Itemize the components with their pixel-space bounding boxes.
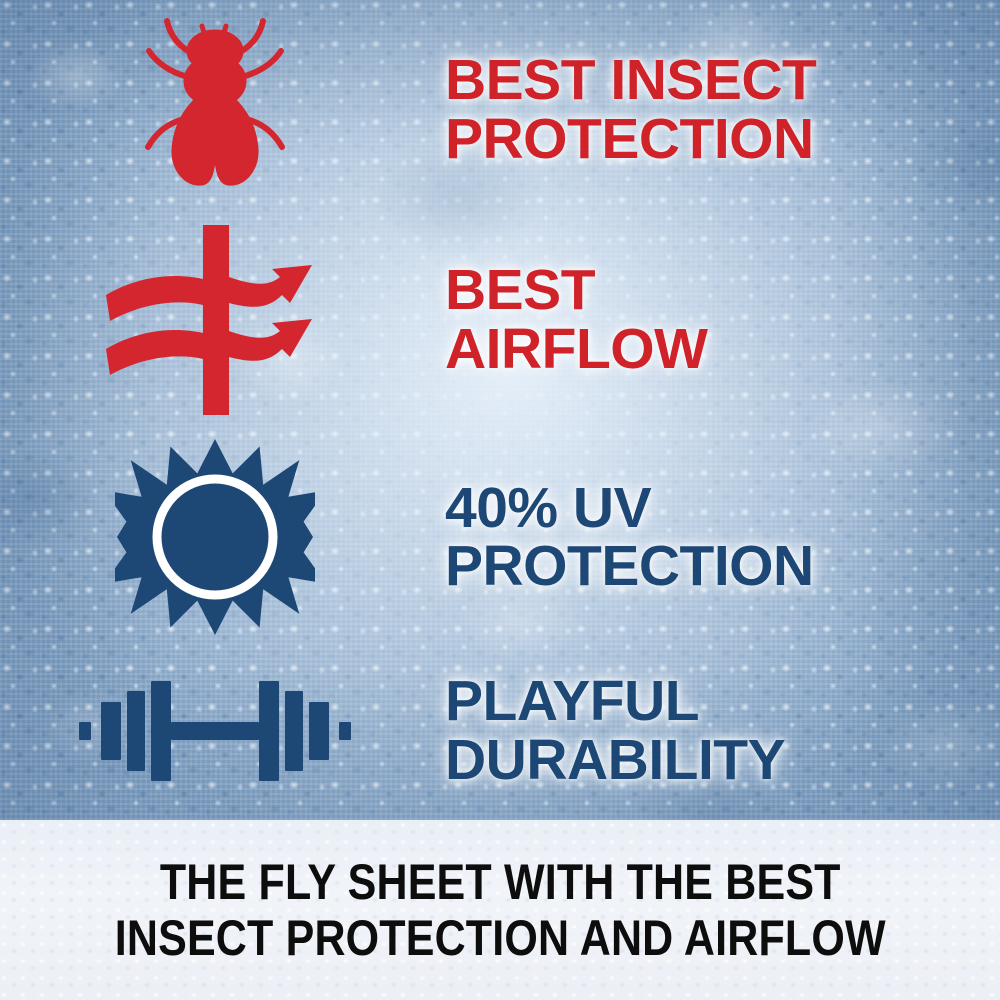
feature-label-uv-protection: 40% UV PROTECTION [445, 479, 1000, 595]
label-cell-durability: PLAYFUL DURABILITY [430, 672, 1000, 788]
feature-row-insect-protection: BEST INSECT PROTECTION [0, 12, 1000, 207]
icon-cell-sun [0, 437, 430, 637]
label-cell-airflow: BEST AIRFLOW [430, 261, 1000, 377]
caption-band: THE FLY SHEET WITH THE BEST INSECT PROTE… [0, 820, 1000, 1000]
feature-label-airflow: BEST AIRFLOW [445, 261, 1000, 377]
feature-label-insect-protection: BEST INSECT PROTECTION [445, 51, 1000, 167]
feature-label-durability: PLAYFUL DURABILITY [445, 672, 1000, 788]
feature-row-durability: PLAYFUL DURABILITY [0, 648, 1000, 813]
sun-uv-icon [115, 437, 315, 637]
dumbbell-icon [75, 666, 355, 796]
icon-cell-fly [0, 15, 430, 205]
airflow-arrows-icon [100, 225, 330, 415]
feature-row-airflow: BEST AIRFLOW [0, 222, 1000, 417]
feature-list: BEST INSECT PROTECTION [0, 0, 1000, 820]
sunburst-star [115, 439, 315, 635]
caption-headline: THE FLY SHEET WITH THE BEST INSECT PROTE… [115, 854, 886, 966]
feature-row-uv-protection: 40% UV PROTECTION [0, 432, 1000, 642]
icon-cell-dumbbell [0, 666, 430, 796]
label-cell-insect-protection: BEST INSECT PROTECTION [430, 51, 1000, 167]
label-cell-uv-protection: 40% UV PROTECTION [430, 479, 1000, 595]
fly-icon [130, 15, 300, 205]
airflow-barrier-bar [203, 225, 229, 415]
infographic-poster: BEST INSECT PROTECTION [0, 0, 1000, 1000]
icon-cell-airflow [0, 225, 430, 415]
